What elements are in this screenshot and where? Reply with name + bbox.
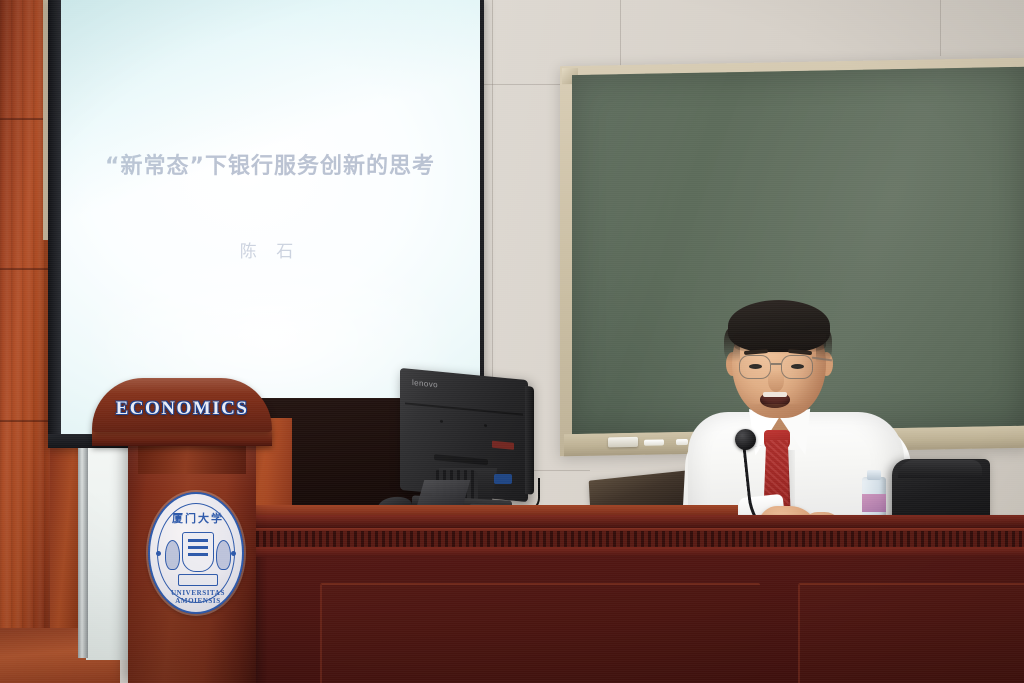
university-seal: 厦门大学 UNIVERSITAS AMOIENSIS xyxy=(148,492,244,614)
counter-lip xyxy=(238,547,1024,557)
screen-left-border xyxy=(48,0,61,448)
seal-figure-left xyxy=(165,540,180,570)
podium-shelf xyxy=(92,430,272,446)
chin-shadow xyxy=(748,404,804,418)
counter-dentil-molding xyxy=(238,531,1024,547)
counter-panel xyxy=(798,583,1024,683)
seal-chinese-name: 厦门大学 xyxy=(150,510,244,526)
glasses-bridge xyxy=(771,363,781,365)
screen-support-pole xyxy=(78,448,88,658)
seal-figure-right xyxy=(216,540,231,570)
eraser xyxy=(608,437,638,448)
front-counter xyxy=(238,515,1024,683)
seal-shield-icon xyxy=(182,532,214,572)
monitor-brand-label: lenovo xyxy=(412,378,438,390)
hair xyxy=(728,300,830,352)
bottle-label xyxy=(862,494,886,512)
microphone-head-icon[interactable] xyxy=(735,429,756,450)
podium-neck xyxy=(138,444,246,474)
wall-seam xyxy=(620,0,621,70)
nose xyxy=(768,370,784,392)
seal-star-icon xyxy=(156,551,161,556)
podium-wordmark: ECONOMICS xyxy=(92,398,272,420)
monitor-sticker xyxy=(492,441,514,450)
seal-pedestal xyxy=(178,574,218,586)
bag-flap xyxy=(898,460,982,478)
counter-panel xyxy=(320,583,760,683)
podium-header-panel: ECONOMICS xyxy=(92,378,272,432)
seal-latin-motto: UNIVERSITAS AMOIENSIS xyxy=(150,589,244,605)
wood-seam xyxy=(0,268,50,270)
monitor-screw-icon xyxy=(484,424,487,427)
monitor-seam xyxy=(405,402,523,415)
monitor-vent-slot xyxy=(434,454,488,465)
counter-top-edge xyxy=(238,515,1024,528)
wall-seam xyxy=(940,0,941,56)
teeth xyxy=(763,392,787,397)
seal-star-icon xyxy=(231,551,236,556)
glasses-lens-right xyxy=(781,355,813,379)
lecture-hall-photo: “新常态”下银行服务创新的思考 陈 石 lenovo xyxy=(0,0,1024,683)
glasses-lens-left xyxy=(739,355,771,379)
slide-title: “新常态”下银行服务创新的思考 xyxy=(60,148,480,180)
bottle-cap xyxy=(867,470,881,480)
wood-seam xyxy=(0,420,50,422)
slide-author: 陈 石 xyxy=(60,237,480,262)
monitor-screw-icon xyxy=(440,420,443,423)
